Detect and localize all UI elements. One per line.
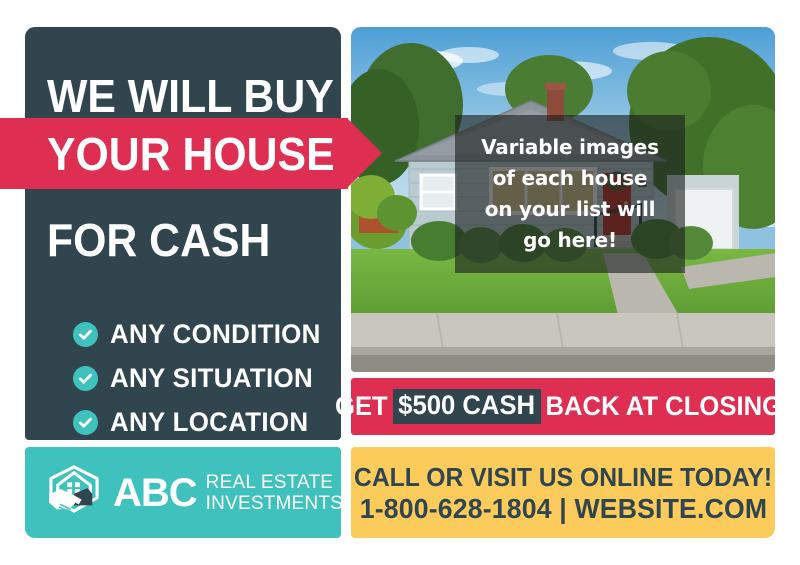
- logo-tagline: REAL ESTATE INVESTMENTS: [206, 472, 343, 514]
- offer-prefix: GET: [335, 393, 388, 420]
- list-item-label: ANY LOCATION: [110, 409, 308, 436]
- headline-panel: WE WILL BUY FOR CASH ANY CONDITION ANY S…: [25, 27, 341, 440]
- list-item-label: ANY SITUATION: [110, 365, 313, 392]
- check-icon: [73, 366, 98, 391]
- company-logo-block: ABC REAL ESTATE INVESTMENTS: [25, 447, 341, 538]
- overlay-line-3: on your list will: [485, 194, 656, 225]
- overlay-line-2: of each house: [493, 163, 648, 194]
- list-item: ANY CONDITION: [73, 315, 341, 353]
- ribbon-arrow-tip: [347, 118, 382, 188]
- contact-call-to-action: CALL OR VISIT US ONLINE TODAY!: [354, 462, 772, 493]
- contact-phone-website[interactable]: 1-800-628-1804 | WEBSITE.COM: [359, 493, 766, 524]
- list-item-label: ANY CONDITION: [110, 321, 321, 348]
- headline-line-2: YOUR HOUSE: [47, 131, 335, 177]
- logo-name: ABC: [113, 473, 197, 513]
- postcard-mailer: WE WILL BUY FOR CASH ANY CONDITION ANY S…: [0, 0, 800, 565]
- headline-line-1: WE WILL BUY: [47, 73, 307, 119]
- benefits-list: ANY CONDITION ANY SITUATION ANY LOCATION: [73, 315, 341, 440]
- offer-suffix: BACK AT CLOSING!: [546, 393, 791, 420]
- house-handshake-icon: [47, 465, 101, 520]
- check-icon: [73, 410, 98, 435]
- photo-overlay-caption: Variable images of each house on your li…: [455, 115, 685, 273]
- check-icon: [73, 322, 98, 347]
- logo-tagline-line-2: INVESTMENTS: [206, 493, 343, 514]
- logo-tagline-line-1: REAL ESTATE: [206, 472, 334, 493]
- offer-bar-text: GET $500 CASH BACK AT CLOSING!: [335, 389, 791, 424]
- list-item: ANY SITUATION: [73, 359, 341, 397]
- headline-ribbon: YOUR HOUSE: [0, 118, 382, 189]
- offer-bar: GET $500 CASH BACK AT CLOSING!: [351, 378, 775, 435]
- house-photo: Variable images of each house on your li…: [351, 27, 775, 372]
- headline-line-3: FOR CASH: [47, 217, 307, 263]
- list-item: ANY LOCATION: [73, 403, 341, 440]
- offer-amount-badge: $500 CASH: [393, 389, 541, 424]
- overlay-line-1: Variable images: [481, 132, 659, 163]
- overlay-line-4: go here!: [523, 225, 617, 256]
- contact-footer: CALL OR VISIT US ONLINE TODAY! 1-800-628…: [351, 447, 775, 538]
